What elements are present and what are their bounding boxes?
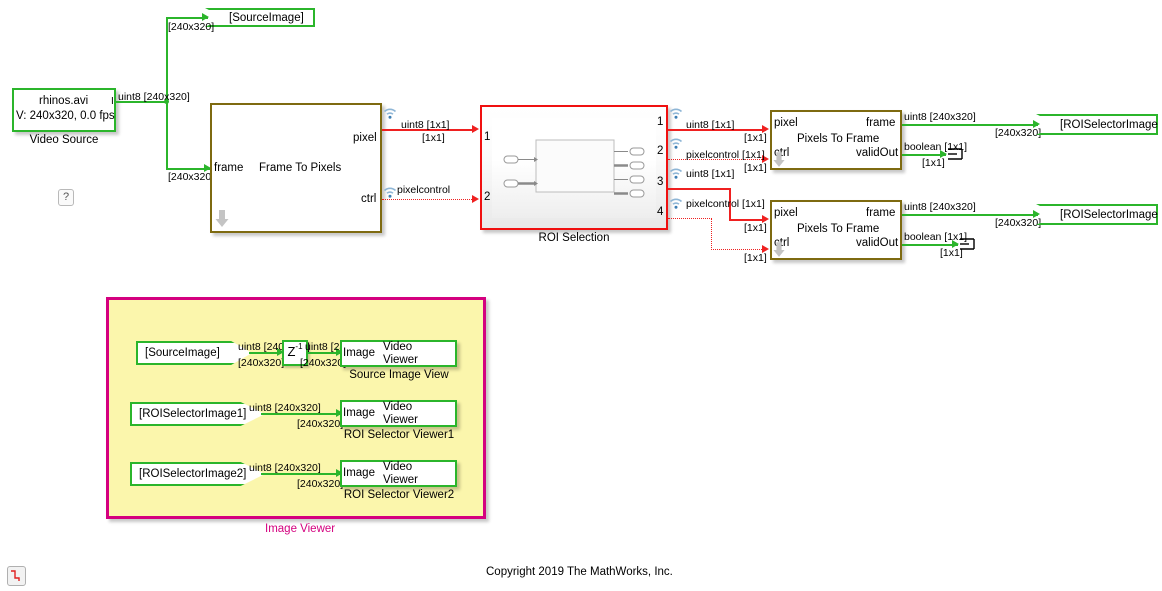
arrow-roi-in2 bbox=[472, 195, 479, 203]
siglabel-ftp-pixel-type: uint8 [1x1] bbox=[401, 119, 449, 131]
video-viewer-source-label: Source Image View bbox=[348, 369, 450, 381]
signal-marker-icon-roi-out2 bbox=[669, 137, 683, 150]
from-tag-roi-selector-image2[interactable]: [ROISelectorImage2] bbox=[130, 462, 265, 486]
siglabel-roi-out1-dim: [1x1] bbox=[744, 132, 767, 144]
from-tag-roi-selector-image1[interactable]: [ROISelectorImage1] bbox=[130, 402, 265, 426]
video-viewer-source-line2: Viewer bbox=[383, 354, 418, 366]
goto-tag-source-image-label: [SourceImage] bbox=[229, 12, 304, 24]
ptf1-out-valid: validOut bbox=[856, 147, 898, 159]
ptf2-title: Pixels To Frame bbox=[797, 223, 879, 235]
video-viewer-roi1-port: Image bbox=[343, 407, 375, 419]
roi-in-port-2: 2 bbox=[484, 191, 490, 203]
video-viewer-roi2-port: Image bbox=[343, 467, 375, 479]
video-viewer-source-line1: Video bbox=[383, 341, 412, 353]
simulink-model-canvas[interactable]: [SourceImage] [240x320] rhinos.avi V: 24… bbox=[0, 0, 1162, 591]
siglabel-ptf1-valid-dim: [1x1] bbox=[922, 157, 945, 169]
signal-marker-icon-roi-out1 bbox=[669, 107, 683, 120]
siglabel-row3-type: uint8 [240x320] bbox=[249, 462, 321, 474]
video-viewer-roi1-line1: Video bbox=[383, 401, 412, 413]
video-source-line2: V: 240x320, 0.0 fps bbox=[16, 110, 115, 122]
video-viewer-source-port: Image bbox=[343, 347, 375, 359]
signal-marker-icon-ftp-ctrl bbox=[383, 186, 397, 199]
wire-ptf1-frame-out bbox=[902, 124, 1038, 126]
video-source-line1: rhinos.avi bbox=[39, 95, 88, 107]
siglabel-ptf2-frame-type: uint8 [240x320] bbox=[904, 201, 976, 213]
siglabel-ptf2-frame-dim: [240x320] bbox=[995, 217, 1041, 229]
scope-icon[interactable] bbox=[7, 566, 26, 586]
wire-roi-out4-seg2 bbox=[711, 218, 712, 250]
goto-tag-roi-selector-image2[interactable]: [ROISelectorImage2] bbox=[1036, 204, 1158, 225]
arrow-roi-in1 bbox=[472, 125, 479, 133]
unit-delay-label: Z bbox=[287, 344, 295, 359]
copyright-text: Copyright 2019 The MathWorks, Inc. bbox=[486, 566, 673, 578]
ptf2-out-valid: validOut bbox=[856, 237, 898, 249]
ptf1-in-pixel: pixel bbox=[774, 117, 798, 129]
siglabel-roi-out2-dim: [1x1] bbox=[744, 162, 767, 174]
ptf1-subsystem-arrow-icon bbox=[773, 152, 785, 168]
siglabel-ptf1-frame-dim: [240x320] bbox=[995, 127, 1041, 139]
video-source-label: Video Source bbox=[24, 134, 104, 146]
frame-to-pixels-in-frame: frame bbox=[214, 162, 243, 174]
arrow-goto-source-image bbox=[202, 13, 209, 21]
video-viewer-roi2-line2: Viewer bbox=[383, 474, 418, 486]
unit-delay-exponent: -1 bbox=[295, 342, 302, 351]
roi-out-port-1: 1 bbox=[657, 116, 663, 128]
from-tag-source-image-label: [SourceImage] bbox=[145, 347, 220, 359]
wire-roi-out4-seg1 bbox=[668, 218, 712, 219]
ptf1-out-frame: frame bbox=[866, 117, 895, 129]
video-viewer-roi2-line1: Video bbox=[383, 461, 412, 473]
goto-tag-source-image[interactable]: [SourceImage] bbox=[205, 8, 315, 27]
help-icon[interactable]: ? bbox=[58, 189, 74, 206]
siglabel-ftp-in-dim: [240x320] bbox=[168, 171, 214, 183]
goto-tag-roi-selector-image1[interactable]: [ROISelectorImage1] bbox=[1036, 114, 1158, 135]
roi-in-port-1: 1 bbox=[484, 131, 490, 143]
wire-ptf2-valid-out bbox=[902, 244, 958, 246]
video-viewer-roi1-label: ROI Selector Viewer1 bbox=[343, 429, 455, 441]
ptf2-subsystem-arrow-icon bbox=[773, 242, 785, 258]
siglabel-source-out-type: uint8 [240x320] bbox=[118, 91, 190, 103]
video-source-out-port-label: I bbox=[111, 96, 114, 107]
frame-to-pixels-out-pixel: pixel bbox=[353, 132, 377, 144]
goto-tag-roi2-label: [ROISelectorImage2] bbox=[1060, 209, 1162, 221]
ptf1-title: Pixels To Frame bbox=[797, 133, 879, 145]
siglabel-ptf2-valid-type: boolean [1x1] bbox=[904, 231, 967, 243]
signal-marker-icon-ftp-pixel bbox=[383, 107, 397, 120]
signal-marker-icon-roi-out3 bbox=[669, 167, 683, 180]
from-tag-roi1-label: [ROISelectorImage1] bbox=[139, 408, 246, 420]
siglabel-roi-out1-type: uint8 [1x1] bbox=[686, 119, 734, 131]
siglabel-roi-out3-type: uint8 [1x1] bbox=[686, 168, 734, 180]
video-viewer-roi2-label: ROI Selector Viewer2 bbox=[343, 489, 455, 501]
siglabel-roi-out4-dim: [1x1] bbox=[744, 252, 767, 264]
wire-ptf2-frame-out bbox=[902, 214, 1038, 216]
area-image-viewer-label: Image Viewer bbox=[265, 523, 335, 535]
ptf2-in-pixel: pixel bbox=[774, 207, 798, 219]
frame-to-pixels-out-ctrl: ctrl bbox=[361, 193, 376, 205]
siglabel-row1-dim: [240x320] bbox=[238, 357, 284, 369]
siglabel-roi-out4-type: pixelcontrol [1x1] bbox=[686, 198, 765, 210]
siglabel-source-goto-dim: [240x320] bbox=[168, 21, 214, 33]
video-viewer-roi1-line2: Viewer bbox=[383, 414, 418, 426]
siglabel-row2-dim: [240x320] bbox=[297, 418, 343, 430]
roi-out-port-2: 2 bbox=[657, 145, 663, 157]
roi-selection-label: ROI Selection bbox=[524, 232, 624, 244]
goto-tag-roi1-label: [ROISelectorImage1] bbox=[1060, 119, 1162, 131]
wire-roi-out4-seg3 bbox=[711, 249, 766, 250]
siglabel-row2-type: uint8 [240x320] bbox=[249, 402, 321, 414]
wire-source-branch-down bbox=[166, 101, 168, 169]
frame-to-pixels-title: Frame To Pixels bbox=[259, 162, 341, 174]
wire-ftp-ctrl-to-roi bbox=[382, 199, 476, 200]
roi-out-port-3: 3 bbox=[657, 176, 663, 188]
siglabel-ftp-ctrl-type: pixelcontrol bbox=[397, 184, 450, 196]
siglabel-row3-dim: [240x320] bbox=[297, 478, 343, 490]
siglabel-ptf1-frame-type: uint8 [240x320] bbox=[904, 111, 976, 123]
signal-marker-icon-roi-out4 bbox=[669, 197, 683, 210]
from-tag-source-image[interactable]: [SourceImage] bbox=[136, 341, 252, 365]
wire-roi-out3-seg3 bbox=[729, 219, 766, 221]
siglabel-ftp-pixel-dim: [1x1] bbox=[422, 132, 445, 144]
roi-selection-thumbnail bbox=[492, 118, 656, 218]
siglabel-roi-out2-type: pixelcontrol [1x1] bbox=[686, 149, 765, 161]
siglabel-ptf1-valid-type: boolean [1x1] bbox=[904, 141, 967, 153]
scope-waveform-icon bbox=[8, 567, 25, 585]
siglabel-ptf2-valid-dim: [1x1] bbox=[940, 247, 963, 259]
siglabel-roi-out3-dim: [1x1] bbox=[744, 222, 767, 234]
ptf2-out-frame: frame bbox=[866, 207, 895, 219]
wire-roi-out3-seg1 bbox=[668, 188, 730, 190]
from-tag-roi2-label: [ROISelectorImage2] bbox=[139, 468, 246, 480]
roi-out-port-4: 4 bbox=[657, 206, 663, 218]
frame-to-pixels-subsystem-arrow-icon bbox=[215, 210, 229, 228]
